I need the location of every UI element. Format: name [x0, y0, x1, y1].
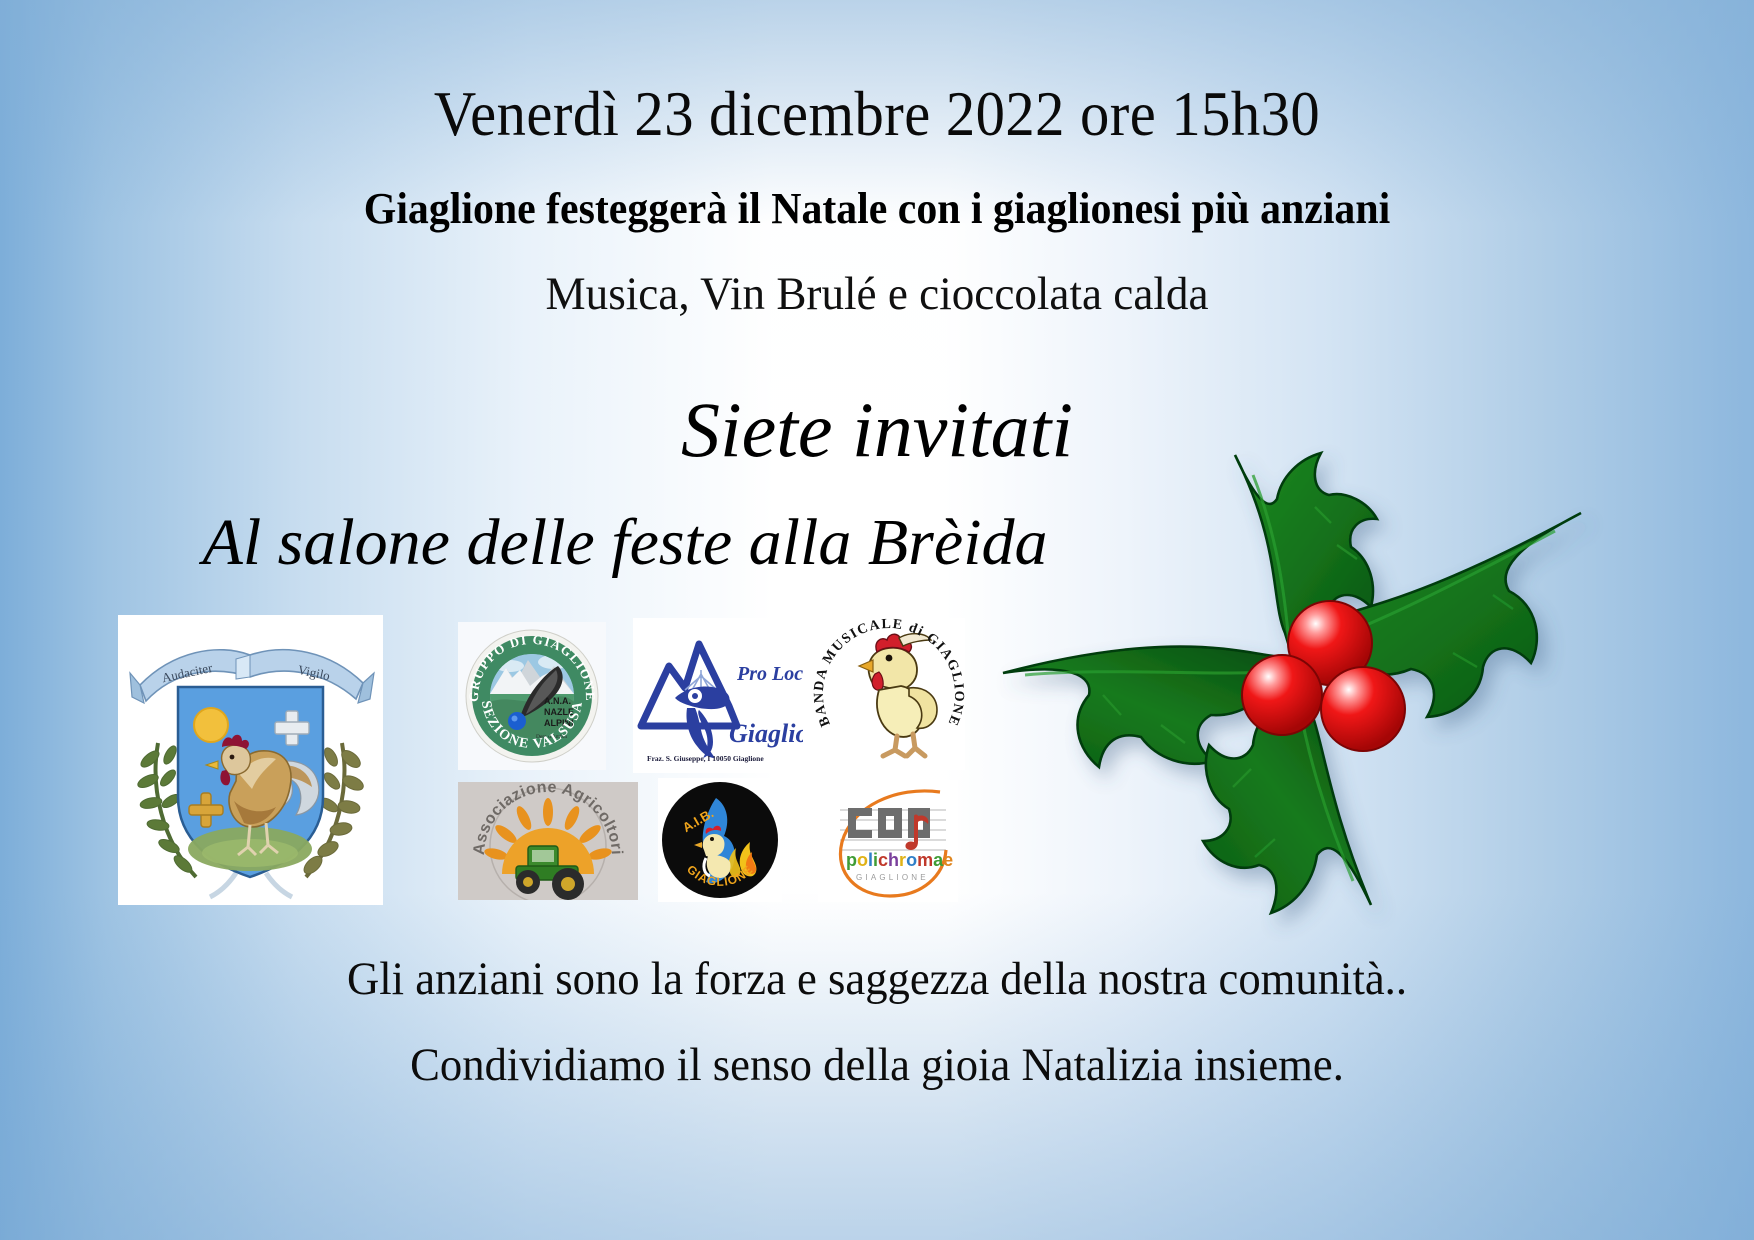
comune-coat-of-arms-logo: Audaciter Vigilo: [118, 615, 383, 905]
ana-gruppo-giaglione-logo: A.N.A. NAZLE ALPINI Dent d'Ambin GRUPPO …: [458, 622, 606, 770]
proloco-address: Fraz. S. Giuseppe, I 10050 Giaglione: [647, 754, 764, 763]
svg-text:Pro Loco: Pro Loco: [736, 663, 803, 685]
event-refreshments-line: Musica, Vin Brulé e cioccolata calda: [35, 267, 1719, 321]
closing-line-two: Condividiamo il senso della gioia Natali…: [44, 1038, 1710, 1092]
proloco-title-2: Giaglione: [729, 719, 803, 748]
coro-word-p: p: [846, 850, 857, 870]
event-headline: Giaglione festeggerà il Natale con i gia…: [44, 183, 1710, 234]
proloco-title-1: Pro Loco: [736, 663, 803, 685]
pro-loco-giaglione-logo: Pro Loco Giaglione Fraz. S. Giuseppe, I …: [633, 618, 803, 773]
coro-word-3: GIAGLIONE: [856, 873, 929, 882]
aib-giaglione-logo: A.I.B. GIAGLIONE: [658, 778, 782, 902]
coro-polichromae-logo: polichromae GIAGLIONE: [818, 780, 958, 902]
svg-text:polichromae: polichromae: [846, 850, 953, 870]
ana-center-line-1: A.N.A.: [544, 696, 571, 706]
associazione-agricoltori-logo: Associazione Agricoltori: [458, 782, 638, 900]
banda-musicale-giaglione-logo: BANDA MUSICALE di GIAGLIONE: [813, 618, 965, 770]
poster-canvas: Venerdì 23 dicembre 2022 ore 15h30 Giagl…: [0, 0, 1754, 1240]
holly-decoration: [985, 395, 1605, 995]
event-date-line: Venerdì 23 dicembre 2022 ore 15h30: [61, 78, 1692, 151]
svg-text:GIAGLIONE: GIAGLIONE: [856, 873, 929, 882]
svg-text:Fraz. S. Giuseppe, I 10050 Gia: Fraz. S. Giuseppe, I 10050 Giaglione: [647, 754, 764, 763]
svg-text:Giaglione: Giaglione: [729, 719, 803, 748]
